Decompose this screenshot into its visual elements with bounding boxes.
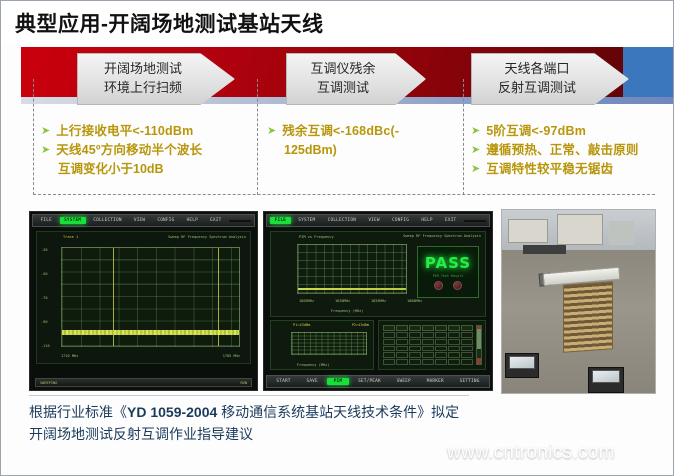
table-row bbox=[448, 359, 460, 365]
x-axis-end: 1785 MHz bbox=[223, 354, 240, 358]
table-row bbox=[435, 332, 447, 338]
caption-part-1: 根据行业标准《 bbox=[29, 404, 127, 420]
table-row bbox=[396, 332, 408, 338]
scrollbar-thumb[interactable] bbox=[477, 329, 481, 349]
sub-chart-p2-label: P2=43dBm bbox=[352, 323, 369, 327]
table-row bbox=[396, 359, 408, 365]
step-3-line-2: 反射互调测试 bbox=[498, 79, 576, 98]
field-test-photo bbox=[501, 209, 656, 394]
arrow-bullet-icon: ➤ bbox=[471, 142, 480, 158]
spectrum-noise-trace bbox=[62, 330, 239, 335]
bullet-column-2: ➤ 残余互调<-168dBc(- 125dBm) bbox=[267, 123, 457, 161]
sub-chart-grid bbox=[291, 332, 367, 355]
instrument1-status-bar: SWEEPING RUN bbox=[35, 378, 252, 387]
photo-instrument-right bbox=[588, 367, 625, 393]
bullet-column-1: ➤ 上行接收电平<-110dBm ➤ 天线45º方向移动半个波长 互调变化小于1… bbox=[41, 123, 253, 180]
list-item: ➤ 遵循预热、正常、敲击原则 bbox=[471, 142, 667, 158]
pim-sub-chart-panel: P1=43dBm P2=43dBm Frequency (MHz) bbox=[270, 320, 374, 370]
arrow-bullet-icon: ➤ bbox=[471, 161, 480, 177]
menu2-item-help[interactable]: HELP bbox=[417, 217, 438, 224]
spectrum-screen-title: Sweep RF Frequency Spectrum Analysis bbox=[168, 235, 246, 239]
scrollbar-down-icon[interactable] bbox=[477, 358, 481, 364]
table-row bbox=[422, 346, 434, 352]
spectrum-marker-label: Trace 1 bbox=[63, 235, 78, 239]
status-badge: PASS PIM Test Result bbox=[417, 246, 479, 298]
table-row bbox=[409, 332, 421, 338]
bullet-text-continuation: 互调变化小于10dB bbox=[41, 161, 253, 177]
y-tick-1: -50 bbox=[41, 272, 48, 276]
table-row bbox=[448, 346, 460, 352]
photo-instrument-left bbox=[505, 353, 539, 379]
pim-curve bbox=[298, 288, 406, 290]
tab-marker[interactable]: MARKER bbox=[420, 378, 450, 385]
tab-pim[interactable]: PIM bbox=[327, 378, 348, 385]
pim-chart-title: PIM vs Frequency bbox=[299, 235, 334, 239]
pim-x-axis-label: Frequency (MHz) bbox=[331, 309, 363, 313]
table-row bbox=[435, 359, 447, 365]
bullet-text: 上行接收电平<-110dBm bbox=[56, 123, 193, 139]
table-row bbox=[422, 339, 434, 345]
list-item: ➤ 互调特性较平稳无锯齿 bbox=[471, 161, 667, 177]
step-1-line-1: 开阔场地测试 bbox=[104, 60, 182, 79]
arrow-bullet-icon: ➤ bbox=[41, 142, 50, 158]
list-item: ➤ 残余互调<-168dBc(- bbox=[267, 123, 457, 139]
list-item: ➤ 上行接收电平<-110dBm bbox=[41, 123, 253, 139]
tab-start[interactable]: START bbox=[270, 378, 297, 385]
table-row bbox=[461, 359, 473, 365]
table-row bbox=[409, 346, 421, 352]
status-run: RUN bbox=[241, 381, 248, 385]
caption-rule bbox=[29, 395, 469, 396]
tab-save[interactable]: SAVE bbox=[300, 378, 324, 385]
table-header-cell bbox=[409, 325, 421, 331]
menu2-item-config[interactable]: CONFIG bbox=[387, 217, 413, 224]
caption: 根据行业标准《YD 1059-2004 移动通信系统基站天线技术条件》拟定开阔场… bbox=[29, 401, 469, 446]
spectrum-grid bbox=[61, 247, 240, 347]
menu2-item-file[interactable]: FILE bbox=[270, 217, 291, 224]
sub-chart-x-label: Frequency (MHz) bbox=[297, 363, 329, 367]
step-1-line-2: 环境上行扫频 bbox=[104, 79, 182, 98]
divider-vertical-left bbox=[33, 79, 34, 195]
menu2-item-collection[interactable]: COLLECTION bbox=[323, 217, 361, 224]
table-row bbox=[461, 346, 473, 352]
photo-building-mid bbox=[557, 214, 603, 245]
table-row bbox=[435, 339, 447, 345]
bullet-text: 残余互调<-168dBc(- bbox=[282, 123, 399, 139]
table-row bbox=[383, 332, 395, 338]
sub-chart-p1-label: P1=43dBm bbox=[293, 323, 310, 327]
menu-item-file[interactable]: FILE bbox=[36, 217, 57, 224]
x-axis-start: 1710 MHz bbox=[61, 354, 78, 358]
knob-left-icon[interactable] bbox=[434, 281, 443, 290]
table-row bbox=[396, 339, 408, 345]
table-row bbox=[396, 346, 408, 352]
menu2-item-exit[interactable]: EXIT bbox=[440, 217, 461, 224]
table-row bbox=[461, 352, 473, 358]
list-item: ➤ 5阶互调<-97dBm bbox=[471, 123, 667, 139]
photo-instrument-screen bbox=[509, 356, 534, 369]
y-tick-3: -90 bbox=[41, 320, 48, 324]
bullet-column-3: ➤ 5阶互调<-97dBm ➤ 遵循预热、正常、敲击原则 ➤ 互调特性较平稳无锯… bbox=[471, 123, 667, 180]
pim-chart-panel: PIM vs Frequency Sweep RF Frequency Spec… bbox=[270, 231, 486, 317]
bullet-text: 遵循预热、正常、敲击原则 bbox=[486, 142, 638, 158]
photo-building-left bbox=[508, 219, 548, 243]
table-row bbox=[448, 332, 460, 338]
menu2-item-system[interactable]: SYSTEM bbox=[294, 217, 320, 224]
table-header-cell bbox=[448, 325, 460, 331]
instrument2-tab-bar[interactable]: START SAVE PIM SET/PEAK SWEEP MARKER SET… bbox=[266, 375, 490, 388]
tab-setting[interactable]: SETTING bbox=[453, 378, 486, 385]
menu-item-config[interactable]: CONFIG bbox=[153, 217, 179, 224]
step-2-line-1: 互调仪残余 bbox=[310, 60, 375, 79]
menu2-item-view[interactable]: VIEW bbox=[364, 217, 385, 224]
bullet-text: 天线45º方向移动半个波长 bbox=[56, 142, 202, 158]
table-row bbox=[383, 346, 395, 352]
instrument2-menu-bar[interactable]: FILE SYSTEM COLLECTION VIEW CONFIG HELP … bbox=[266, 214, 490, 227]
divider-vertical-right bbox=[463, 79, 464, 195]
divider-horizontal bbox=[33, 194, 655, 195]
menu-item-exit[interactable]: EXIT bbox=[206, 217, 227, 224]
table-row bbox=[461, 339, 473, 345]
watermark: www.cntronics.com bbox=[447, 442, 615, 464]
caption-standard: YD 1059-2004 bbox=[127, 404, 217, 420]
menu-item-system[interactable]: SYSTEM bbox=[60, 217, 86, 224]
table-row bbox=[435, 346, 447, 352]
table-header-cell bbox=[435, 325, 447, 331]
instrument1-menu-bar[interactable]: FILE SYSTEM COLLECTION VIEW CONFIG HELP … bbox=[32, 214, 255, 227]
step-2-line-2: 互调测试 bbox=[317, 79, 369, 98]
pim-x-tick-0: 1805MHz bbox=[299, 299, 314, 303]
results-table bbox=[383, 325, 473, 365]
table-row bbox=[435, 352, 447, 358]
table-row bbox=[448, 352, 460, 358]
y-tick-2: -70 bbox=[41, 296, 48, 300]
pim-chart-grid bbox=[297, 244, 407, 294]
y-tick-0: -30 bbox=[41, 248, 48, 252]
pim-x-tick-2: 1855MHz bbox=[371, 299, 386, 303]
table-row bbox=[461, 332, 473, 338]
tab-sweep[interactable]: SWEEP bbox=[390, 378, 417, 385]
table-row bbox=[422, 332, 434, 338]
spectrum-analyzer-screenshot: FILE SYSTEM COLLECTION VIEW CONFIG HELP … bbox=[29, 211, 258, 391]
pim-chart-header: Sweep RF Frequency Spectrum Analysis bbox=[403, 234, 481, 238]
table-row bbox=[383, 352, 395, 358]
table-scrollbar[interactable] bbox=[476, 325, 482, 365]
table-row bbox=[396, 352, 408, 358]
table-row bbox=[422, 352, 434, 358]
arrow-bullet-icon: ➤ bbox=[471, 123, 480, 139]
menu-item-collection[interactable]: COLLECTION bbox=[89, 217, 127, 224]
arrow-bullet-icon: ➤ bbox=[267, 123, 276, 139]
table-header-cell bbox=[461, 325, 473, 331]
pass-verdict-subtext: PIM Test Result bbox=[433, 274, 464, 278]
tab-setpeak[interactable]: SET/PEAK bbox=[352, 378, 388, 385]
arrow-bullet-icon: ➤ bbox=[41, 123, 50, 139]
divider-vertical-mid bbox=[257, 79, 258, 195]
photo-pallet-stack bbox=[563, 281, 613, 352]
photo-truck bbox=[523, 245, 566, 254]
page-title: 典型应用-开阔场地测试基站天线 bbox=[1, 8, 324, 38]
pim-x-tick-1: 1830MHz bbox=[335, 299, 350, 303]
menu-item-view[interactable]: VIEW bbox=[129, 217, 150, 224]
pim-results-table-panel[interactable] bbox=[378, 320, 486, 370]
table-header-cell bbox=[383, 325, 395, 331]
bullet-text: 互调特性较平稳无锯齿 bbox=[486, 161, 613, 177]
spectrum-screen: Sweep RF Frequency Spectrum Analysis Tra… bbox=[36, 231, 251, 364]
title-bar: 典型应用-开阔场地测试基站天线 bbox=[1, 1, 673, 45]
table-header-cell bbox=[396, 325, 408, 331]
table-row bbox=[383, 339, 395, 345]
pim-tester-screenshot: FILE SYSTEM COLLECTION VIEW CONFIG HELP … bbox=[263, 211, 493, 391]
knob-right-icon[interactable] bbox=[453, 281, 462, 290]
y-tick-4: -110 bbox=[41, 344, 50, 348]
slide-root: 典型应用-开阔场地测试基站天线 开阔场地测试 环境上行扫频 互调仪残余 互调测试… bbox=[0, 0, 674, 476]
table-row bbox=[409, 359, 421, 365]
list-item: ➤ 天线45º方向移动半个波长 bbox=[41, 142, 253, 158]
table-row bbox=[422, 359, 434, 365]
bullet-text-continuation: 125dBm) bbox=[267, 142, 457, 158]
photo-building-right bbox=[609, 221, 633, 245]
table-row bbox=[409, 339, 421, 345]
pim-x-tick-3: 1880MHz bbox=[407, 299, 422, 303]
blue-banner-block bbox=[623, 47, 673, 103]
menu-item-help[interactable]: HELP bbox=[182, 217, 203, 224]
table-row bbox=[448, 339, 460, 345]
knob-row bbox=[434, 281, 462, 290]
pass-verdict-text: PASS bbox=[425, 254, 471, 272]
menu2-status-block bbox=[464, 220, 486, 222]
photo-instrument-screen-2 bbox=[592, 370, 620, 383]
table-row bbox=[409, 352, 421, 358]
step-3-line-1: 天线各端口 bbox=[504, 60, 569, 79]
table-row bbox=[383, 359, 395, 365]
table-header-cell bbox=[422, 325, 434, 331]
status-sweeping: SWEEPING bbox=[40, 381, 57, 385]
bullet-text: 5阶互调<-97dBm bbox=[486, 123, 586, 139]
menu-status-block bbox=[229, 220, 251, 222]
